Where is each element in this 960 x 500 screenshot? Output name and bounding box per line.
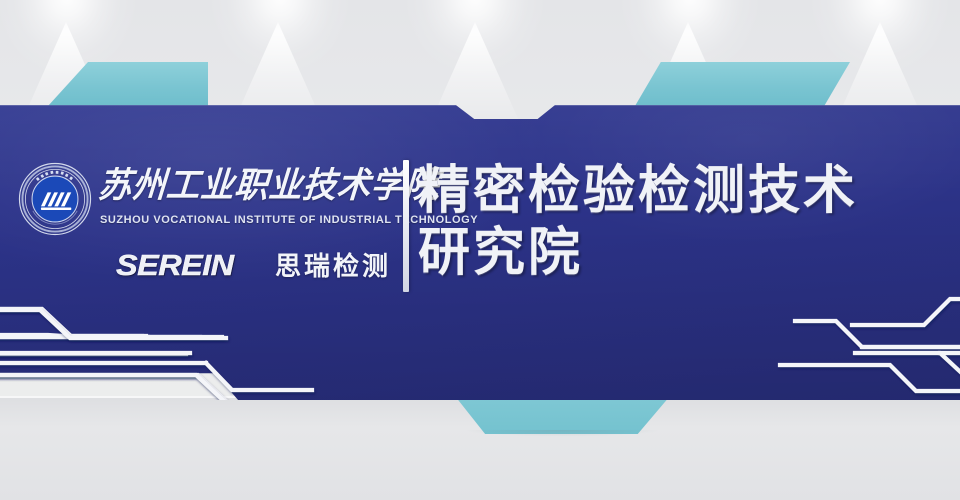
signage-scene: 苏州工业职业技术学院 SUZHOU VOCATIONAL INSTITUTE O… xyxy=(0,0,960,500)
partner-brand-cn: 思瑞检测 xyxy=(275,246,391,283)
institute-title: 精密检验检测技术 研究院 xyxy=(418,160,948,284)
suzhou-institute-crest-icon xyxy=(18,162,92,236)
vertical-divider xyxy=(403,160,409,292)
logo-block: 苏州工业职业技术学院 SUZHOU VOCATIONAL INSTITUTE O… xyxy=(14,158,394,293)
institute-title-line-1: 精密检验检测技术 xyxy=(418,160,948,222)
teal-trapezoid-top-right xyxy=(635,62,850,106)
institute-title-line-2: 研究院 xyxy=(418,222,948,284)
partner-brand-en: SEREIN xyxy=(116,250,234,283)
teal-trapezoid-bottom xyxy=(455,396,670,434)
teal-bottom-shadow xyxy=(455,430,670,439)
partner-brand-row: SEREIN 思瑞检测 xyxy=(116,246,391,283)
university-name-cn: 苏州工业职业技术学院 xyxy=(96,160,387,212)
